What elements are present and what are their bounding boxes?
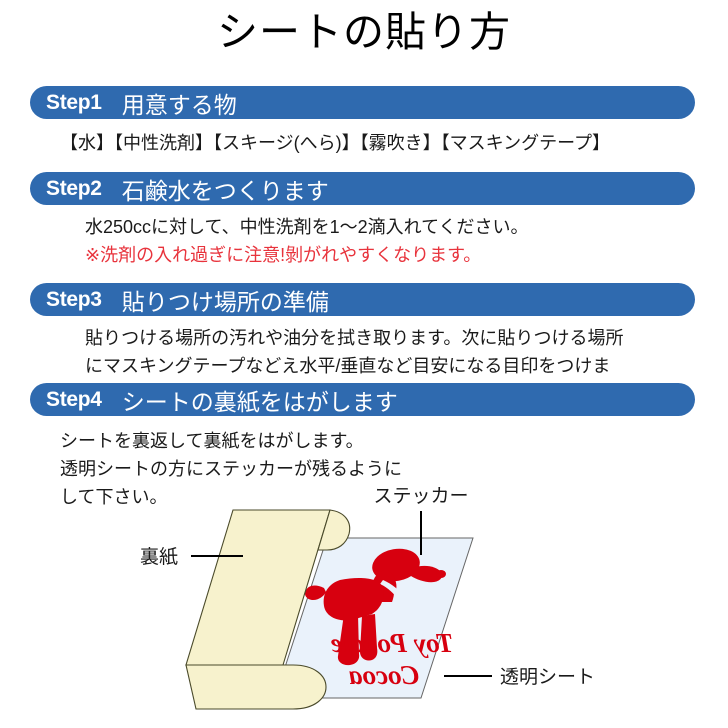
step-number-4: Step4 (46, 388, 102, 412)
step-heading-2: 石鹸水をつくります (122, 172, 329, 205)
step-body-1: 【水】【中性洗剤】【スキージ(へら)】【霧吹き】【マスキングテープ】 (60, 130, 680, 158)
sticker-text-line-2: Cocoa (349, 660, 420, 690)
step-heading-3: 貼りつけ場所の準備 (122, 283, 329, 316)
step-body-2-line-1: 水250ccに対して、中性洗剤を1〜2滴入れてください。 (85, 214, 685, 242)
peel-diagram: Toy Poodle Cocoa 裏紙 (0, 480, 728, 728)
step-body-1-line-1: 【水】【中性洗剤】【スキージ(へら)】【霧吹き】【マスキングテープ】 (60, 130, 680, 158)
page-title: シートの貼り方 (0, 8, 728, 57)
instruction-sheet-page: シートの貼り方 Step1 用意する物 【水】【中性洗剤】【スキージ(へら)】【… (0, 0, 728, 728)
step-body-2-warning: ※洗剤の入れ過ぎに注意!剝がれやすくなります。 (85, 242, 685, 270)
step-body-2: 水250ccに対して、中性洗剤を1〜2滴入れてください。 ※洗剤の入れ過ぎに注意… (85, 214, 685, 270)
step-bar-3: Step3 貼りつけ場所の準備 (30, 283, 695, 316)
label-sticker: ステッカー (373, 486, 468, 507)
step-bar-4: Step4 シートの裏紙をはがします (30, 383, 695, 416)
step-heading-1: 用意する物 (122, 86, 237, 119)
sticker-text-mirrored: Toy Poodle (331, 628, 454, 658)
step-heading-4: シートの裏紙をはがします (122, 383, 398, 416)
step-bar-1: Step1 用意する物 (30, 86, 695, 119)
label-backing-paper: 裏紙 (140, 546, 178, 568)
backing-paper-flap (186, 665, 326, 709)
step-number-3: Step3 (46, 288, 102, 312)
step-body-4-line-1: シートを裏返して裏紙をはがします。 (60, 428, 520, 456)
label-transparent-sheet: 透明シート (500, 666, 595, 688)
sticker-text-line-1: Toy Poodle (331, 628, 454, 658)
step-number-1: Step1 (46, 91, 102, 115)
step-number-2: Step2 (46, 177, 102, 201)
step-bar-2: Step2 石鹸水をつくります (30, 172, 695, 205)
